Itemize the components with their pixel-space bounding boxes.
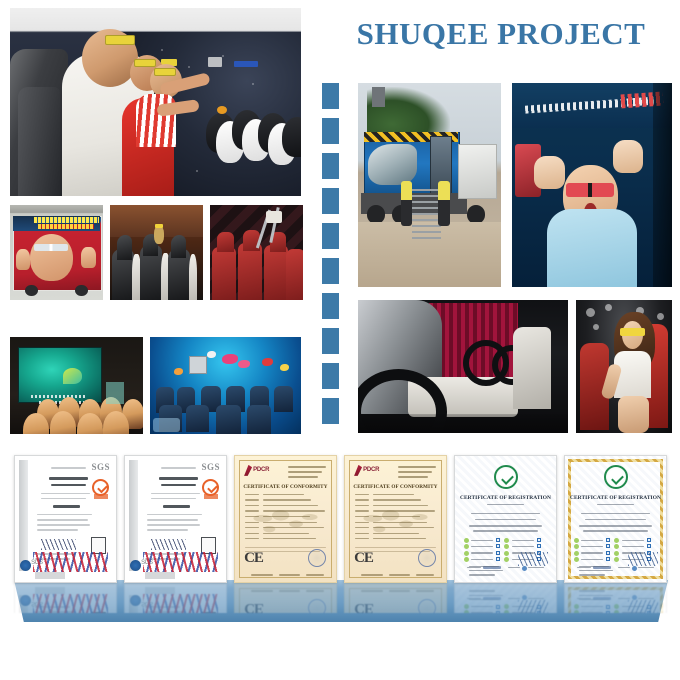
sgs-badge-label <box>204 494 218 499</box>
photo-red-cinema-seats <box>210 205 303 300</box>
truck-phone-text <box>38 224 94 229</box>
ad-3d-glasses <box>566 183 614 197</box>
cert-sgs-iso-chinese[interactable]: SGSSGS <box>124 455 227 583</box>
divider-dash <box>322 398 339 424</box>
truck-url-text <box>34 217 99 223</box>
photo-shark-truck-staff <box>358 83 501 287</box>
project-gallery-page: SHUQEE PROJECT <box>0 0 680 680</box>
photo-woman-yellow-glasses <box>576 300 672 433</box>
cert-stamp <box>418 549 436 567</box>
staff-person-1 <box>401 181 412 226</box>
signpost <box>372 87 385 107</box>
truck-cab <box>458 144 497 199</box>
ad-3d-glasses <box>34 244 67 251</box>
photo-blue-ocean-theater <box>150 337 301 434</box>
photo-seat-closeup-curtain <box>358 300 568 433</box>
sgs-badge-label <box>94 494 108 499</box>
cert-footer-pattern <box>143 552 218 572</box>
shelf-platform <box>14 580 668 622</box>
fish-decor <box>222 354 238 364</box>
ad-hand-right <box>81 247 96 268</box>
cert-footer-box <box>35 572 65 580</box>
registration-seal <box>604 465 628 489</box>
control-console <box>189 356 207 374</box>
wall-led <box>234 61 258 67</box>
ad-hand-left <box>534 156 564 189</box>
photo-greek-truck <box>512 83 672 287</box>
cert-signature <box>518 552 548 566</box>
cert-title: CERTIFICATE OF REGISTRATION <box>565 495 666 501</box>
ukas-logo <box>130 560 141 571</box>
cert-footer-box <box>145 572 175 580</box>
certificate-display-shelf: SGSSGSSGSSGSSGSSGSSGSSGSPDCRCERTIFICATE … <box>6 455 674 605</box>
photo-dark-cinema-seats <box>110 205 203 300</box>
ukas-logo <box>20 560 31 571</box>
3d-glasses <box>105 35 135 45</box>
cert-spine <box>19 460 28 571</box>
divider-dash <box>322 83 339 109</box>
ad-hand-right <box>613 140 643 173</box>
3d-glasses-3 <box>154 68 176 76</box>
yellow-3d-glasses <box>620 328 645 336</box>
shuqee-logo-on-screen <box>63 368 82 384</box>
pdcr-logo: PDCR <box>244 465 268 476</box>
ce-mark: CE <box>354 550 373 567</box>
cert-ce-conformity-1[interactable]: PDCRCERTIFICATE OF CONFORMITYCE <box>234 455 337 583</box>
dashed-divider <box>322 83 340 433</box>
divider-dash <box>322 328 339 354</box>
cert-title: CERTIFICATE OF CONFORMITY <box>345 484 446 490</box>
cert-ce-conformity-2[interactable]: PDCRCERTIFICATE OF CONFORMITYCE <box>344 455 447 583</box>
ad-woman-face <box>30 234 73 282</box>
photo-mobile-truck-israel <box>10 205 103 300</box>
cert-stamp <box>308 549 326 567</box>
truck-edge-shadow <box>653 83 672 287</box>
cert-sgs-iso-english[interactable]: SGSSGS <box>14 455 117 583</box>
photo-green-screen-theater <box>10 337 143 434</box>
divider-dash <box>322 223 339 249</box>
floor-shadow <box>358 414 568 433</box>
cert-footer-pattern <box>33 552 108 572</box>
divider-dash <box>322 293 339 319</box>
woman-legs <box>618 396 649 433</box>
divider-dash <box>322 153 339 179</box>
staff-person-2 <box>438 181 449 226</box>
cert-signature <box>41 539 75 550</box>
screen-caption-text <box>31 395 87 398</box>
divider-dash <box>322 363 339 389</box>
ce-mark: CE <box>244 550 263 567</box>
cert-registration-plain[interactable]: CERTIFICATE OF REGISTRATION <box>454 455 557 583</box>
standing-person <box>154 226 164 244</box>
pdcr-logo: PDCR <box>354 465 378 476</box>
cert-spine <box>129 460 138 571</box>
sgs-logo: SGS <box>201 462 220 472</box>
ad-hand-left <box>16 249 31 270</box>
cert-signature <box>628 552 658 566</box>
cert-title: CERTIFICATE OF REGISTRATION <box>455 495 556 501</box>
cert-title: CERTIFICATE OF CONFORMITY <box>235 484 336 490</box>
divider-dash <box>322 258 339 284</box>
page-title: SHUQEE PROJECT <box>336 16 666 52</box>
sgs-logo: SGS <box>91 462 110 472</box>
cert-registration-gold[interactable]: CERTIFICATE OF REGISTRATION <box>564 455 667 583</box>
access-stairs <box>412 189 441 242</box>
cert-signature <box>151 539 185 550</box>
shark-graphic <box>368 144 417 185</box>
foreground-seat-2 <box>18 87 60 196</box>
wall-box <box>208 57 222 67</box>
seat-right <box>513 327 551 409</box>
3d-glasses-2 <box>134 59 156 67</box>
floor-light <box>153 418 180 432</box>
divider-dash <box>322 118 339 144</box>
divider-dash <box>322 188 339 214</box>
ad-woman-body <box>547 209 637 287</box>
registration-seal <box>494 465 518 489</box>
photo-5d-cinema-audience <box>10 8 301 196</box>
